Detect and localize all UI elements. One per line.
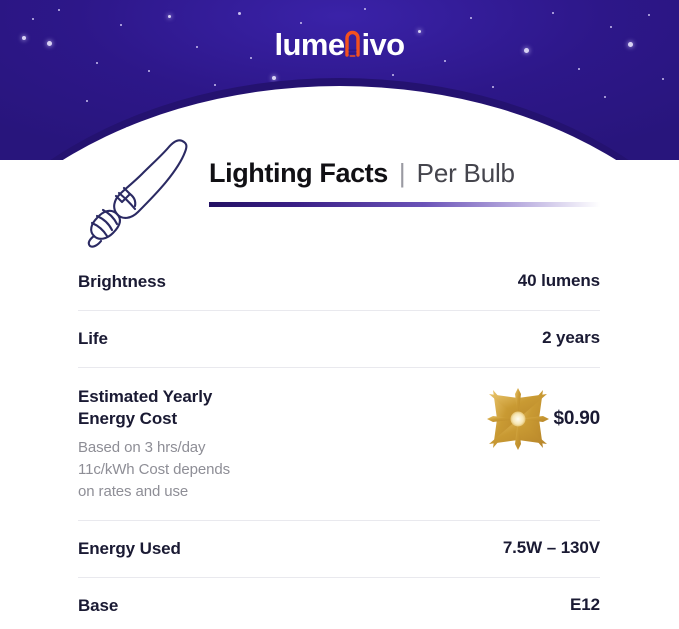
starburst-icon	[487, 388, 549, 450]
label-content: Lighting Facts | Per Bulb Brightness 40 …	[0, 132, 679, 236]
title-gradient-rule	[209, 202, 600, 207]
fact-note-line: on rates and use	[78, 481, 230, 503]
fact-label: Base	[78, 595, 118, 618]
fact-value: E12	[570, 595, 600, 615]
fact-label: Life	[78, 328, 108, 351]
logo-text-after: ivo	[361, 29, 404, 60]
title-row: Lighting Facts | Per Bulb	[0, 132, 679, 236]
title-block: Lighting Facts | Per Bulb	[209, 158, 609, 207]
brand-logo[interactable]: lume ivo	[0, 25, 679, 60]
table-row: Brightness 40 lumens	[78, 254, 600, 310]
fact-value: 40 lumens	[518, 271, 600, 291]
title-separator: |	[399, 158, 406, 189]
fact-label: Estimated Yearly	[78, 386, 230, 409]
table-row: Estimated Yearly Energy Cost Based on 3 …	[78, 368, 600, 521]
fact-note: Based on 3 hrs/day 11c/kWh Cost depends …	[78, 437, 230, 502]
fact-label: Brightness	[78, 271, 166, 294]
table-row: Energy Used 7.5W – 130V	[78, 521, 600, 577]
bulb-icon	[344, 27, 361, 57]
fact-value: 7.5W – 130V	[503, 538, 600, 558]
fact-label: Energy Used	[78, 538, 181, 561]
facts-list: Brightness 40 lumens Life 2 years Estima…	[78, 254, 600, 629]
table-row: Life 2 years	[78, 311, 600, 367]
fact-value: 2 years	[542, 328, 600, 348]
page-title: Lighting Facts	[209, 158, 388, 189]
logo-text-before: lume	[275, 29, 345, 60]
cost-value-group: $0.90	[487, 388, 600, 450]
candelabra-bulb-outline-icon	[78, 136, 200, 248]
fact-note-line: Based on 3 hrs/day	[78, 437, 230, 459]
fact-value: $0.90	[553, 408, 600, 430]
lighting-facts-label: lume ivo	[0, 0, 679, 629]
fact-label-line2: Energy Cost	[78, 408, 230, 431]
table-row: Base E12	[78, 578, 600, 629]
page-subtitle: Per Bulb	[417, 158, 515, 189]
fact-note-line: 11c/kWh Cost depends	[78, 459, 230, 481]
